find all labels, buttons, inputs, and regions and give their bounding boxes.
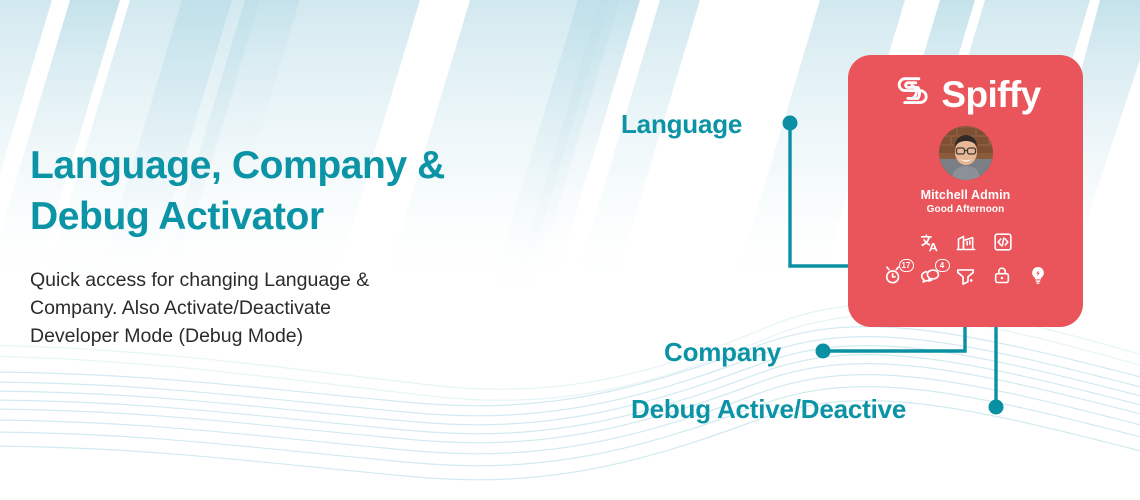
card-secondary-icon-row: 17 4: [848, 263, 1083, 287]
user-profile-card: Spiffy: [848, 55, 1083, 327]
clock-activity-icon[interactable]: 17: [883, 264, 905, 286]
chat-bubble-icon[interactable]: 4: [919, 264, 941, 286]
spiffy-paperclip-s-logo-icon: [890, 70, 934, 119]
filter-icon[interactable]: [955, 264, 977, 286]
promo-banner: Language, Company & Debug Activator Quic…: [0, 0, 1140, 500]
connector-dot-language: [783, 116, 798, 131]
connector-dot-company: [816, 344, 831, 359]
clock-activity-badge: 17: [899, 259, 914, 272]
chat-bubble-badge: 4: [935, 259, 950, 272]
user-greeting: Good Afternoon: [927, 204, 1005, 215]
callout-label-language: Language: [621, 109, 742, 140]
user-avatar-photo-icon[interactable]: [939, 126, 993, 180]
building-icon[interactable]: [955, 231, 977, 253]
brand-name: Spiffy: [941, 76, 1040, 113]
lightbulb-icon[interactable]: [1027, 264, 1049, 286]
code-brackets-icon[interactable]: [992, 231, 1014, 253]
callout-label-debug: Debug Active/Deactive: [631, 394, 906, 425]
connector-dot-debug: [989, 400, 1004, 415]
card-user-block: Mitchell Admin Good Afternoon: [848, 126, 1083, 215]
card-brand: Spiffy: [848, 68, 1083, 120]
user-name: Mitchell Admin: [921, 188, 1011, 202]
lock-icon[interactable]: [991, 264, 1013, 286]
card-primary-icon-row: [848, 231, 1083, 253]
callout-label-company: Company: [664, 337, 781, 368]
translate-icon[interactable]: [918, 231, 940, 253]
